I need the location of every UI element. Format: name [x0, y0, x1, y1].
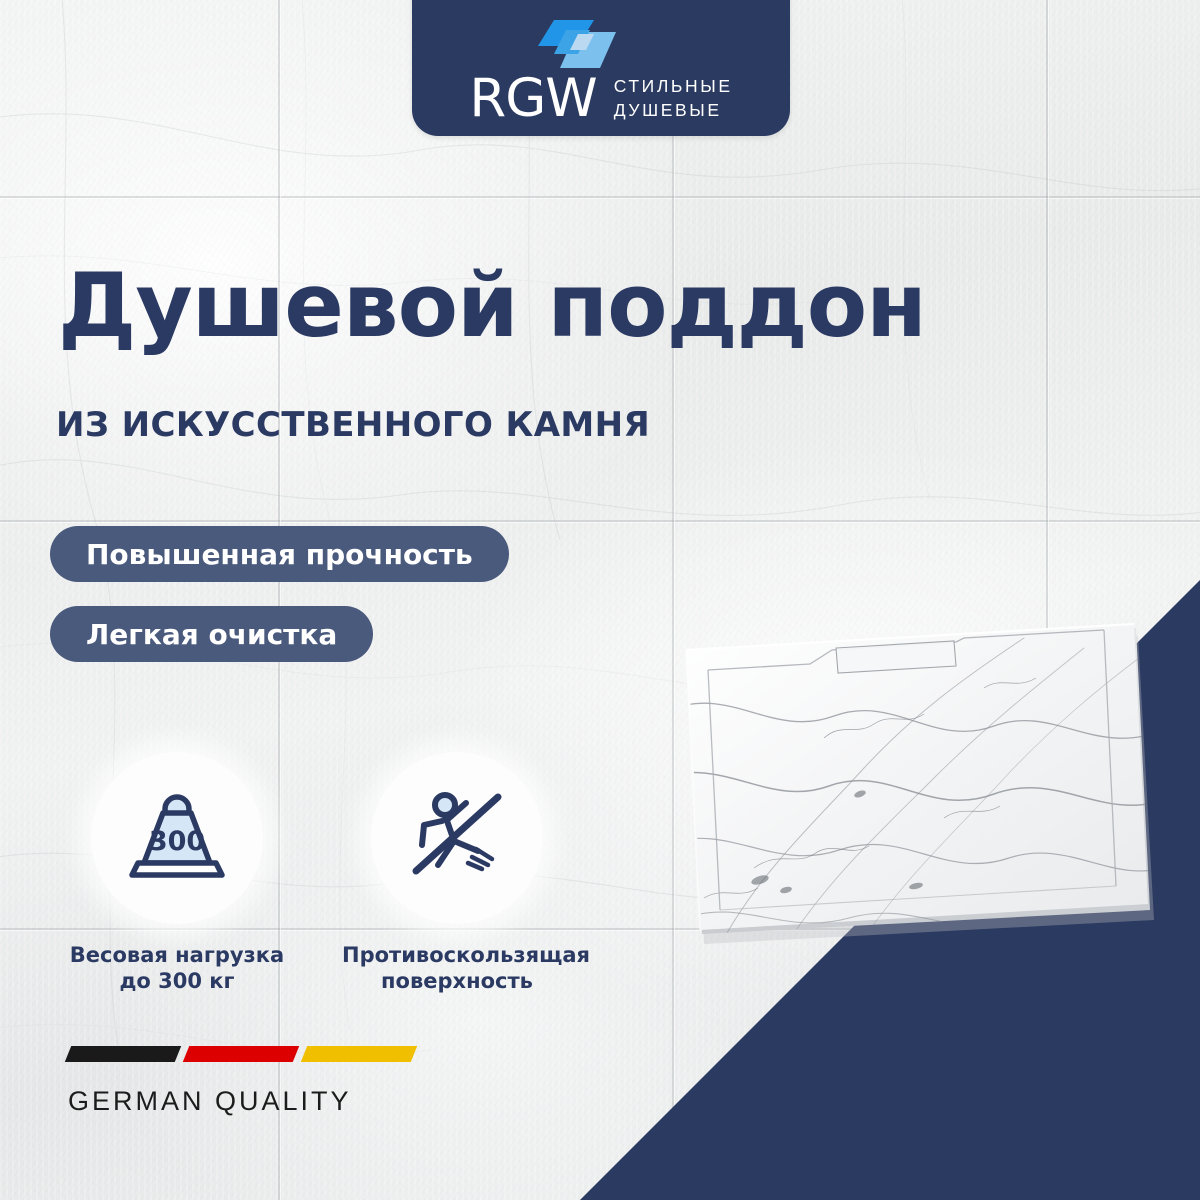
brand-wordmark: RGW	[469, 72, 596, 125]
feature-caption-line2: до 300 кг	[62, 968, 292, 994]
anti-slip-no-slipping-icon	[398, 779, 516, 897]
feature-anti-slip: Противоскользящая поверхность	[342, 752, 572, 995]
feature-pill-durability: Повышенная прочность	[50, 526, 509, 582]
shower-tray-product-image	[664, 618, 1164, 958]
tile-grout-line-horizontal	[0, 520, 1200, 522]
brand-tagline-line1: СТИЛЬНЫЕ	[614, 75, 733, 98]
flag-stripe-yellow	[301, 1046, 417, 1062]
feature-caption-line2: поверхность	[342, 968, 572, 994]
brand-header-bar: RGW СТИЛЬНЫЕ ДУШЕВЫЕ	[412, 0, 790, 136]
rgw-parallelogram-mark-icon	[532, 16, 632, 72]
page-title: Душевой поддон	[58, 262, 926, 350]
tile-grout-line-horizontal	[0, 196, 1200, 198]
flag-stripe-red	[183, 1046, 299, 1062]
german-quality-label: GERMAN QUALITY	[68, 1086, 398, 1117]
brand-lockup: RGW СТИЛЬНЫЕ ДУШЕВЫЕ	[412, 72, 790, 125]
weight-icon-value: 300	[149, 826, 205, 857]
feature-icon-circle	[371, 752, 543, 924]
german-flag-stripes	[68, 1046, 398, 1062]
product-advertisement-poster: RGW СТИЛЬНЫЕ ДУШЕВЫЕ Душевой поддон ИЗ И…	[0, 0, 1200, 1200]
feature-caption-line1: Весовая нагрузка	[62, 942, 292, 968]
page-subtitle: ИЗ ИСКУССТВЕННОГО КАМНЯ	[56, 408, 650, 442]
feature-caption: Противоскользящая поверхность	[342, 942, 572, 995]
feature-pill-easy-clean: Легкая очистка	[50, 606, 373, 662]
brand-tagline-line2: ДУШЕВЫЕ	[614, 99, 733, 122]
feature-caption-line1: Противоскользящая	[342, 942, 572, 968]
tile-grout-line-vertical	[672, 0, 674, 1200]
weight-300-icon: 300	[118, 779, 236, 897]
feature-weight-load: 300 Весовая нагрузка до 300 кг	[62, 752, 292, 995]
tile-grout-line-vertical	[278, 0, 280, 1200]
german-quality-badge: GERMAN QUALITY	[68, 1046, 398, 1117]
feature-caption: Весовая нагрузка до 300 кг	[62, 942, 292, 995]
flag-stripe-black	[65, 1046, 181, 1062]
brand-tagline: СТИЛЬНЫЕ ДУШЕВЫЕ	[614, 75, 733, 121]
feature-icon-circle: 300	[91, 752, 263, 924]
